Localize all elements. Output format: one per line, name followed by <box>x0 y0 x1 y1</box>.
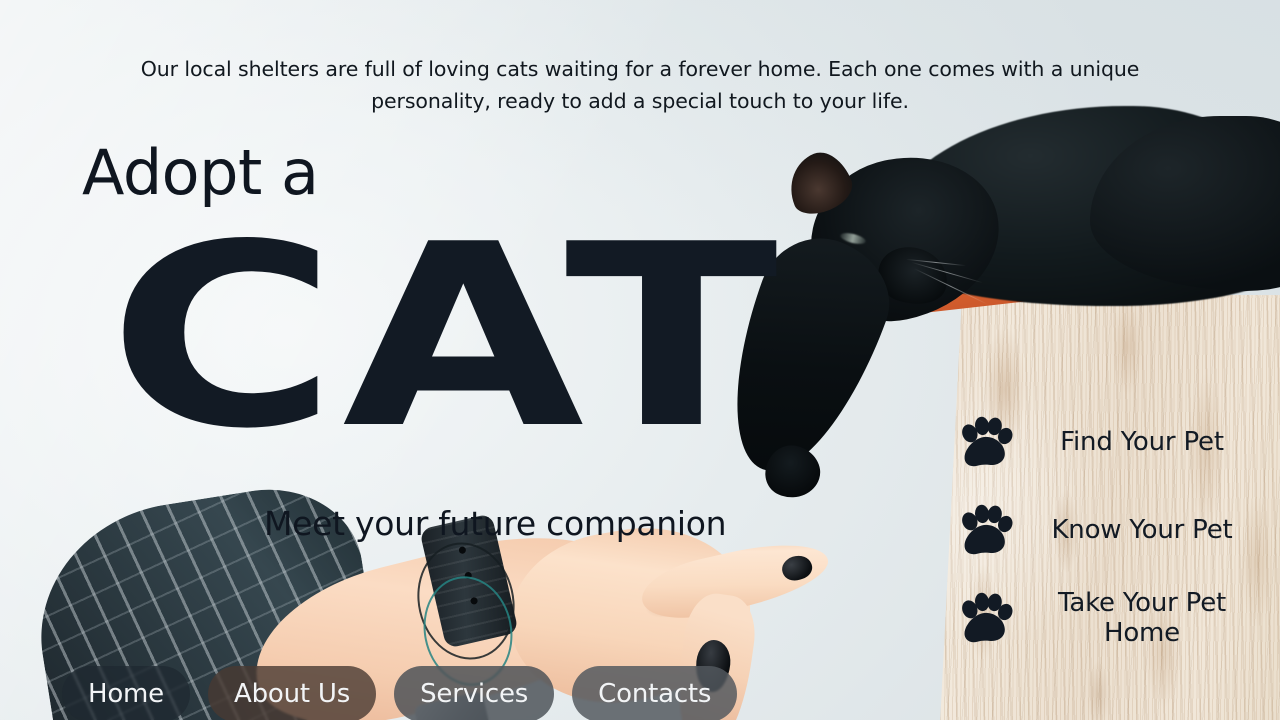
intro-paragraph: Our local shelters are full of loving ca… <box>90 54 1190 118</box>
feature-list: Find Your Pet Know Your Pet <box>958 412 1258 650</box>
paw-print-icon <box>958 415 1014 471</box>
black-cat-image <box>760 96 1280 346</box>
feature-item-take-your-pet-home[interactable]: Take Your Pet Home <box>958 588 1258 650</box>
paw-print-icon <box>958 503 1014 559</box>
nav-item-home[interactable]: Home <box>62 666 190 720</box>
nav-item-about-us[interactable]: About Us <box>208 666 376 720</box>
feature-label: Know Your Pet <box>1026 516 1258 546</box>
nav-item-contacts[interactable]: Contacts <box>572 666 737 720</box>
feature-item-find-your-pet[interactable]: Find Your Pet <box>958 412 1258 474</box>
feature-item-know-your-pet[interactable]: Know Your Pet <box>958 500 1258 562</box>
hero-tagline: Meet your future companion <box>264 506 726 542</box>
nav-item-services[interactable]: Services <box>394 666 554 720</box>
feature-label: Take Your Pet Home <box>1026 589 1258 648</box>
feature-label: Find Your Pet <box>1026 428 1258 458</box>
hero-headline: CAT <box>108 212 783 464</box>
main-navigation: Home About Us Services Contacts <box>62 666 737 720</box>
hero-banner: Our local shelters are full of loving ca… <box>0 0 1280 720</box>
paw-print-icon <box>958 591 1014 647</box>
